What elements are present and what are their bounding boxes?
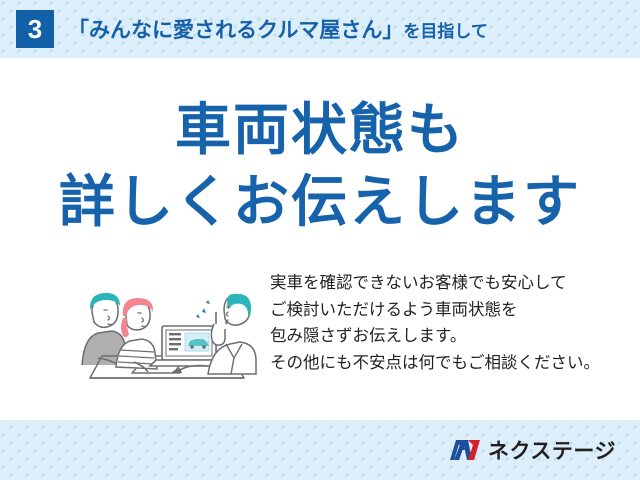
body-copy-line-3: 包み隠さずお伝えします。 <box>270 323 600 350</box>
nextage-logo-text: ネクステージ <box>488 435 616 465</box>
header: 3 「みんなに愛されるクルマ屋さん」 を目指して <box>0 0 640 58</box>
header-title: 「みんなに愛されるクルマ屋さん」 を目指して <box>68 14 488 44</box>
content-card: 車両状態も 詳しくお伝えします <box>0 58 640 420</box>
nextage-n-mark-icon <box>448 438 482 462</box>
page-title-line-2: 詳しくお伝えします <box>0 168 640 236</box>
page-title-line-1: 車両状態も <box>0 96 640 164</box>
nextage-logo: ネクステージ <box>448 435 616 465</box>
body-copy-line-4: その他にも不安点は何でもご相談ください。 <box>270 350 600 377</box>
body-copy-line-1: 実車を確認できないお客様でも安心して <box>270 270 600 297</box>
body-copy-line-2: ご検討いただけるよう車両状態を <box>270 297 600 324</box>
page-background: 3 「みんなに愛されるクルマ屋さん」 を目指して 車両状態も 詳しくお伝えします <box>0 0 640 480</box>
section-number-badge: 3 <box>16 10 54 48</box>
footer: ネクステージ <box>0 420 640 480</box>
page-title: 車両状態も 詳しくお伝えします <box>0 96 640 237</box>
header-title-suffix: を目指して <box>403 17 488 42</box>
consultation-illustration <box>58 270 258 395</box>
content-row: 実車を確認できないお客様でも安心して ご検討いただけるよう車両状態を 包み隠さず… <box>0 270 640 410</box>
header-title-main: 「みんなに愛されるクルマ屋さん」 <box>68 14 403 44</box>
body-copy: 実車を確認できないお客様でも安心して ご検討いただけるよう車両状態を 包み隠さず… <box>270 270 600 377</box>
